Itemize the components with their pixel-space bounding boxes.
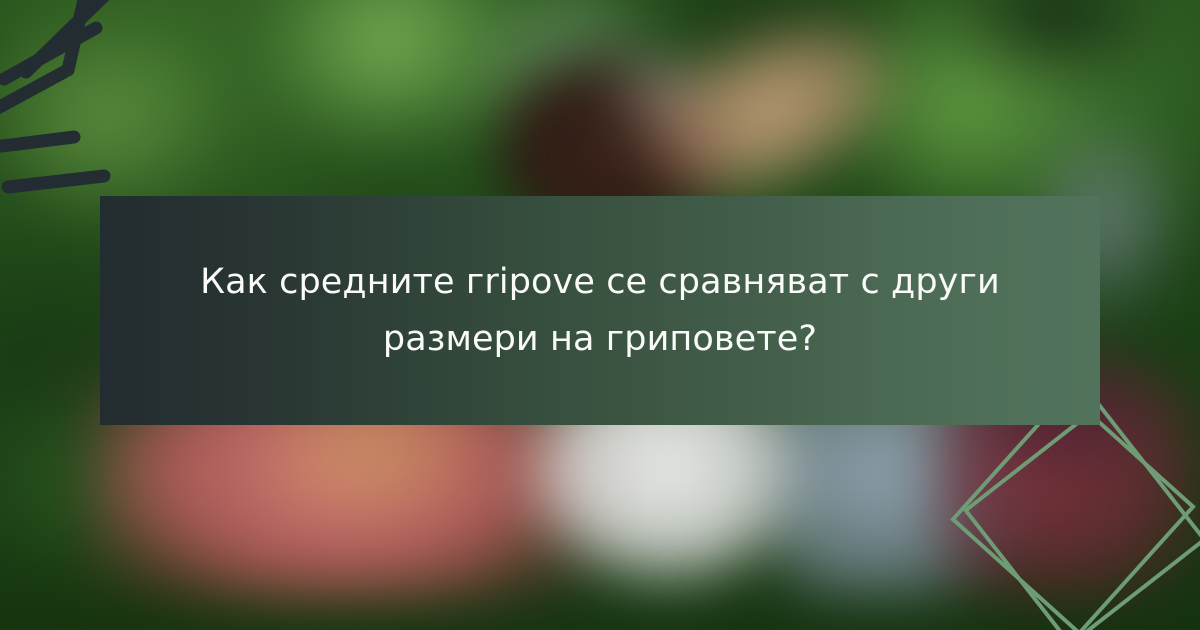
sparkle-burst-icon <box>0 0 230 200</box>
foliage-shadow-top-right <box>940 0 1170 90</box>
share-card: Как средните гripove се сравняват с друг… <box>0 0 1200 630</box>
headline-text: Как средните гripove се сравняват с друг… <box>160 254 1040 367</box>
headline-line-2: размери на гриповете? <box>383 319 817 359</box>
headline-banner: Как средните гripove се сравняват с друг… <box>100 196 1100 425</box>
headline-line-1: Как средните гripove се сравняват с друг… <box>200 262 1000 302</box>
